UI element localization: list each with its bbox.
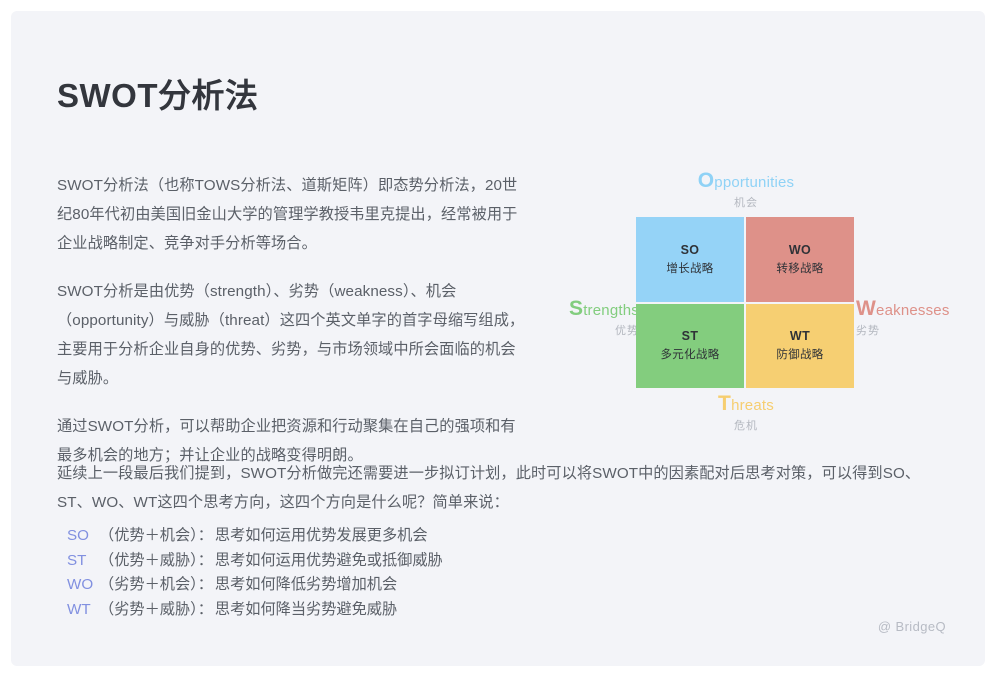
axis-label-threats: Threats 危机 [681,392,811,433]
axis-initial-s: S [569,297,583,320]
combo-desc-wo: 思考如何降低劣势增加机会 [213,573,397,598]
axis-rest-weaknesses: eaknesses [876,302,950,319]
paragraph-1: SWOT分析法（也称TOWS分析法、道斯矩阵）即态势分析法，20世纪80年代初由… [57,171,527,258]
quadrant-wo-code: WO [789,243,811,257]
axis-label-opportunities: Opportunities 机会 [666,169,826,210]
combo-code-wo: WO [67,573,99,598]
quadrant-so-code: SO [681,243,700,257]
axis-initial-t: T [718,392,731,415]
list-item: SO （优势＋机会）： 思考如何运用优势发展更多机会 [67,524,627,549]
axis-label-weaknesses: Weaknesses 劣势 [856,297,981,338]
combo-code-so: SO [67,524,99,549]
combo-pair-wo: （劣势＋机会）： [99,573,213,598]
quadrant-wt-code: WT [790,329,810,343]
combo-desc-st: 思考如何运用优势避免或抵御威胁 [213,549,443,574]
swot-matrix-grid: SO 增长战略 WO 转移战略 ST 多元化战略 WT 防御战略 [636,217,854,388]
axis-label-strengths-en: Strengths [543,297,639,321]
swot-matrix-figure: Opportunities 机会 Strengths 优势 Weaknesses… [551,166,971,441]
quadrant-st: ST 多元化战略 [636,304,744,389]
quadrant-wo: WO 转移战略 [746,217,854,302]
watermark: @ BridgeQ [878,619,946,634]
axis-label-weaknesses-cn: 劣势 [856,322,981,338]
axis-rest-opportunities: pportunities [714,174,794,191]
combo-pair-st: （优势＋威胁）： [99,549,213,574]
axis-rest-threats: hreats [731,397,774,414]
slide-card: SWOT分析法 SWOT分析法（也称TOWS分析法、道斯矩阵）即态势分析法，20… [11,11,985,666]
combo-pair-wt: （劣势＋威胁）： [99,598,213,623]
combo-code-st: ST [67,549,99,574]
quadrant-st-code: ST [682,329,699,343]
axis-label-threats-en: Threats [681,392,811,416]
paragraph-2: SWOT分析是由优势（strength）、劣势（weakness）、机会（opp… [57,277,527,393]
quadrant-st-label: 多元化战略 [661,346,720,362]
axis-initial-o: O [698,169,715,192]
list-item: ST （优势＋威胁）： 思考如何运用优势避免或抵御威胁 [67,549,627,574]
list-item: WO （劣势＋机会）： 思考如何降低劣势增加机会 [67,573,627,598]
combination-list: SO （优势＋机会）： 思考如何运用优势发展更多机会 ST （优势＋威胁）： 思… [67,524,627,622]
axis-label-strengths: Strengths 优势 [543,297,639,338]
axis-label-weaknesses-en: Weaknesses [856,297,981,321]
quadrant-so-label: 增长战略 [666,260,713,276]
body-text-column: SWOT分析法（也称TOWS分析法、道斯矩阵）即态势分析法，20世纪80年代初由… [57,171,527,489]
quadrant-wo-label: 转移战略 [776,260,823,276]
combo-desc-wt: 思考如何降当劣势避免威胁 [213,598,397,623]
quadrant-so: SO 增长战略 [636,217,744,302]
axis-label-threats-cn: 危机 [681,417,811,433]
combo-pair-so: （优势＋机会）： [99,524,213,549]
quadrant-wt-label: 防御战略 [776,346,823,362]
axis-rest-strengths: trengths [583,302,639,319]
quadrant-wt: WT 防御战略 [746,304,854,389]
axis-label-strengths-cn: 优势 [543,322,639,338]
axis-initial-w: W [856,297,876,320]
page-title: SWOT分析法 [57,69,258,117]
axis-label-opportunities-en: Opportunities [666,169,826,193]
combo-code-wt: WT [67,598,99,623]
wide-paragraph: 延续上一段最后我们提到，SWOT分析做完还需要进一步拟订计划，此时可以将SWOT… [57,459,954,517]
axis-label-opportunities-cn: 机会 [666,194,826,210]
list-item: WT （劣势＋威胁）： 思考如何降当劣势避免威胁 [67,598,627,623]
combo-desc-so: 思考如何运用优势发展更多机会 [213,524,428,549]
